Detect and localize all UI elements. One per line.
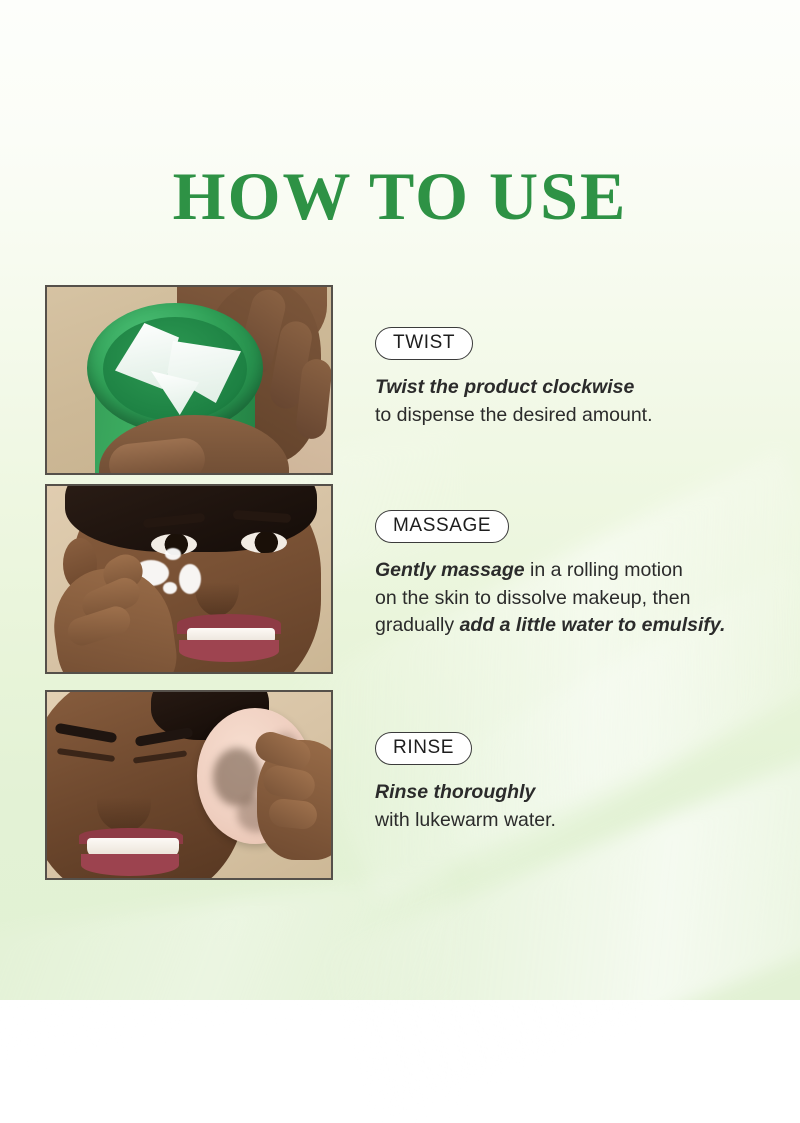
step-massage-badge: MASSAGE [375,510,509,543]
step-rinse-description: Rinse thoroughly with lukewarm water. [375,779,747,834]
step-twist-photo [45,285,333,475]
step-massage-line-2: on the skin to dissolve makeup, then [375,587,690,609]
step-massage-line-1-rest: in a rolling motion [525,559,683,581]
step-twist-line-1-emphasis: Twist the product clockwise [375,376,634,398]
step-massage-text: MASSAGE Gently massage in a rolling moti… [375,510,755,640]
steps-container: TWIST Twist the product clockwise to dis… [0,0,800,1000]
step-massage-line-3-rest: gradually [375,614,460,636]
step-rinse-photo [45,690,333,880]
step-rinse-text: RINSE Rinse thoroughly with lukewarm wat… [375,732,755,834]
step-rinse-line-2: with lukewarm water. [375,809,556,831]
step-massage-line-3-emphasis: add a little water to emulsify. [460,614,726,636]
step-twist-line-2: to dispense the desired amount. [375,404,653,426]
step-massage-description: Gently massage in a rolling motion on th… [375,557,747,640]
step-massage-line-1-emphasis: Gently massage [375,559,525,581]
step-twist-text: TWIST Twist the product clockwise to dis… [375,327,755,429]
step-massage-photo [45,484,333,674]
step-twist-description: Twist the product clockwise to dispense … [375,374,747,429]
step-twist-badge: TWIST [375,327,473,360]
step-rinse-line-1-emphasis: Rinse thoroughly [375,781,535,803]
step-rinse-badge: RINSE [375,732,472,765]
